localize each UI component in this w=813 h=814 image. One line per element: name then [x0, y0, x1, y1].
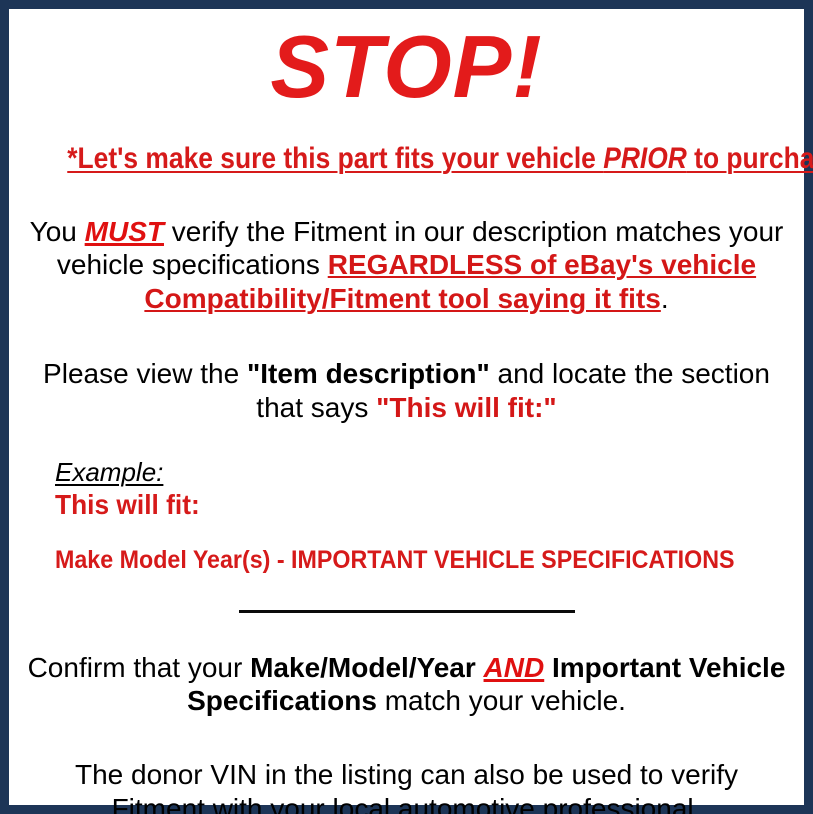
confirm-seg4: match your vehicle.	[377, 685, 626, 716]
tagline-part1: *Let's make sure this part fits your veh…	[67, 142, 603, 175]
stop-heading: STOP!	[21, 17, 792, 111]
example-block: Example: This will fit: Make Model Year(…	[21, 458, 792, 574]
emphasis-must: MUST	[85, 216, 164, 247]
confirm-seg3	[544, 652, 552, 683]
emphasis-this-will-fit: "This will fit:"	[376, 392, 557, 423]
tagline-emphasis-prior: PRIOR	[603, 142, 687, 175]
view-seg1: Please view the	[43, 358, 247, 389]
tagline-part2: to purchasing*	[687, 142, 813, 175]
must-verify-paragraph: You MUST verify the Fitment in our descr…	[21, 215, 792, 316]
example-this-will-fit: This will fit:	[55, 489, 748, 521]
confirm-seg1: Confirm that your	[28, 652, 251, 683]
example-label-row: Example:	[55, 458, 792, 487]
confirm-paragraph: Confirm that your Make/Model/Year AND Im…	[21, 651, 792, 718]
example-label: Example:	[55, 458, 163, 487]
donor-vin-paragraph: The donor VIN in the listing can also be…	[21, 758, 792, 814]
divider-wrapper	[21, 603, 792, 621]
item-description-paragraph: Please view the "Item description" and l…	[21, 357, 792, 424]
poster-content: STOP! *Let's make sure this part fits yo…	[9, 9, 804, 805]
tagline: *Let's make sure this part fits your veh…	[67, 143, 745, 175]
emphasis-item-description: "Item description"	[247, 358, 490, 389]
horizontal-divider	[239, 610, 575, 613]
must-seg1: You	[30, 216, 85, 247]
confirm-seg2	[476, 652, 484, 683]
example-spec-line: Make Model Year(s) - IMPORTANT VEHICLE S…	[55, 547, 740, 575]
emphasis-make-model-year: Make/Model/Year	[250, 652, 476, 683]
must-seg3: .	[661, 283, 669, 314]
emphasis-and: AND	[484, 652, 545, 683]
fitment-warning-poster: STOP! *Let's make sure this part fits yo…	[0, 0, 813, 814]
